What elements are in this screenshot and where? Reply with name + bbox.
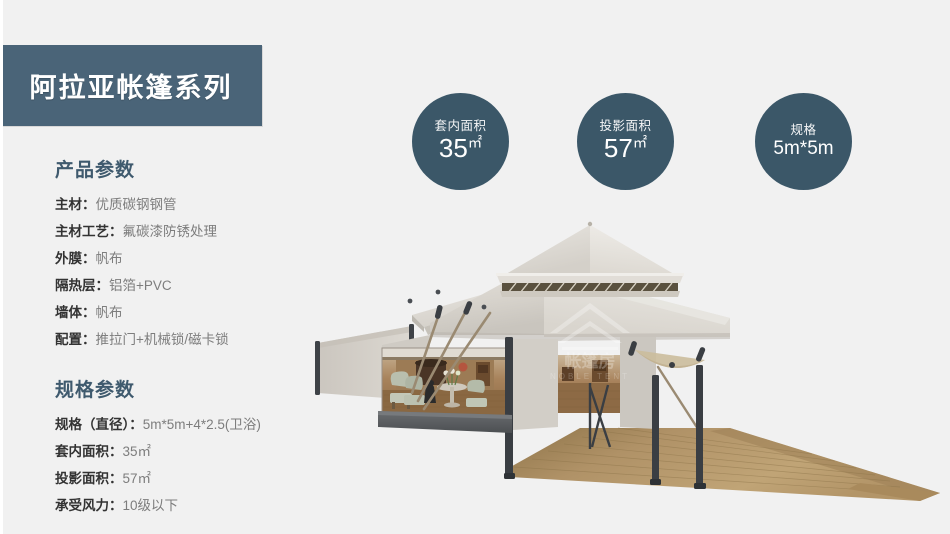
specification-parameters-heading: 规格参数 bbox=[55, 375, 325, 402]
specification-parameters-list: 规格（直径）：5m*5m+4*2.5(卫浴) 套内面积：35㎡ 投影面积：57㎡… bbox=[55, 411, 325, 519]
spec-label: 规格（直径）： bbox=[55, 417, 143, 432]
stat-badge-label: 套内面积 bbox=[434, 120, 486, 134]
product-parameters-list: 主材：优质碳钢钢管 主材工艺：氟碳漆防锈处理 外膜：帆布 隔热层：铝箔+PVC … bbox=[55, 191, 325, 353]
stat-badge-unit: ㎡ bbox=[468, 136, 482, 152]
spec-row: 墙体：帆布 bbox=[55, 299, 325, 326]
spec-row: 主材：优质碳钢钢管 bbox=[55, 191, 325, 218]
stat-badge-unit: ㎡ bbox=[633, 136, 647, 152]
spec-value: 氟碳漆防锈处理 bbox=[123, 224, 218, 239]
spec-row: 外膜：帆布 bbox=[55, 245, 325, 272]
spec-row: 规格（直径）：5m*5m+4*2.5(卫浴) bbox=[55, 411, 325, 438]
section-spacer bbox=[55, 353, 325, 375]
product-parameters-heading: 产品参数 bbox=[55, 155, 325, 182]
product-spec-page: 阿拉亚帐篷系列 产品参数 主材：优质碳钢钢管 主材工艺：氟碳漆防锈处理 外膜：帆… bbox=[0, 0, 950, 534]
roof-finial bbox=[588, 222, 592, 226]
tent-illustration: 帐篷房 NOBLE TENT bbox=[300, 215, 950, 515]
stat-badge-dimensions: 规格 5m*5m bbox=[755, 93, 852, 190]
spec-value: 57㎡ bbox=[123, 471, 152, 486]
facade-right-panel bbox=[513, 339, 558, 430]
spec-row: 隔热层：铝箔+PVC bbox=[55, 272, 325, 299]
stat-badge-projected-area: 投影面积 57㎡ bbox=[577, 93, 674, 190]
svg-text:NOBLE TENT: NOBLE TENT bbox=[550, 372, 630, 381]
left-edge-strip bbox=[0, 0, 3, 534]
series-title-text: 阿拉亚帐篷系列 bbox=[30, 66, 233, 105]
spec-value: 35㎡ bbox=[123, 444, 152, 459]
stat-badge-value: 5m*5m bbox=[773, 139, 833, 159]
spec-value: 推拉门+机械锁/磁卡锁 bbox=[96, 332, 229, 347]
stat-badge-value: 57㎡ bbox=[604, 135, 647, 162]
spec-label: 外膜： bbox=[55, 251, 96, 266]
spec-label: 隔热层： bbox=[55, 278, 109, 293]
spec-row: 配置：推拉门+机械锁/磁卡锁 bbox=[55, 326, 325, 353]
structural-column-right bbox=[652, 375, 659, 483]
spec-row: 套内面积：35㎡ bbox=[55, 438, 325, 465]
spec-value: 优质碳钢钢管 bbox=[96, 197, 177, 212]
structural-column-center bbox=[505, 337, 513, 477]
spec-value: 5m*5m+4*2.5(卫浴) bbox=[143, 417, 261, 432]
spec-label: 主材： bbox=[55, 197, 96, 212]
spec-label: 配置： bbox=[55, 332, 96, 347]
spec-label: 投影面积： bbox=[55, 471, 123, 486]
spec-value: 铝箔+PVC bbox=[109, 278, 172, 293]
spec-value: 10级以下 bbox=[123, 498, 179, 513]
stat-badge-number: 57 bbox=[604, 133, 633, 163]
spec-value: 帆布 bbox=[96, 251, 123, 266]
spec-label: 套内面积： bbox=[55, 444, 123, 459]
stat-badge-label: 投影面积 bbox=[599, 120, 651, 134]
svg-text:帐篷房: 帐篷房 bbox=[565, 351, 616, 371]
spec-row: 承受风力：10级以下 bbox=[55, 492, 325, 519]
spec-row: 主材工艺：氟碳漆防锈处理 bbox=[55, 218, 325, 245]
spec-label: 承受风力： bbox=[55, 498, 123, 513]
spec-label: 墙体： bbox=[55, 305, 96, 320]
spec-row: 投影面积：57㎡ bbox=[55, 465, 325, 492]
spec-label: 主材工艺： bbox=[55, 224, 123, 239]
structural-column-outer bbox=[696, 365, 703, 487]
stat-badge-value: 35㎡ bbox=[439, 135, 482, 162]
spec-value: 帆布 bbox=[96, 305, 123, 320]
stat-badge-number: 35 bbox=[439, 133, 468, 163]
specifications-column: 产品参数 主材：优质碳钢钢管 主材工艺：氟碳漆防锈处理 外膜：帆布 隔热层：铝箔… bbox=[55, 155, 325, 519]
stat-badge-interior-area: 套内面积 35㎡ bbox=[412, 93, 509, 190]
stat-badge-label: 规格 bbox=[790, 124, 816, 138]
series-title-banner: 阿拉亚帐篷系列 bbox=[0, 45, 262, 126]
